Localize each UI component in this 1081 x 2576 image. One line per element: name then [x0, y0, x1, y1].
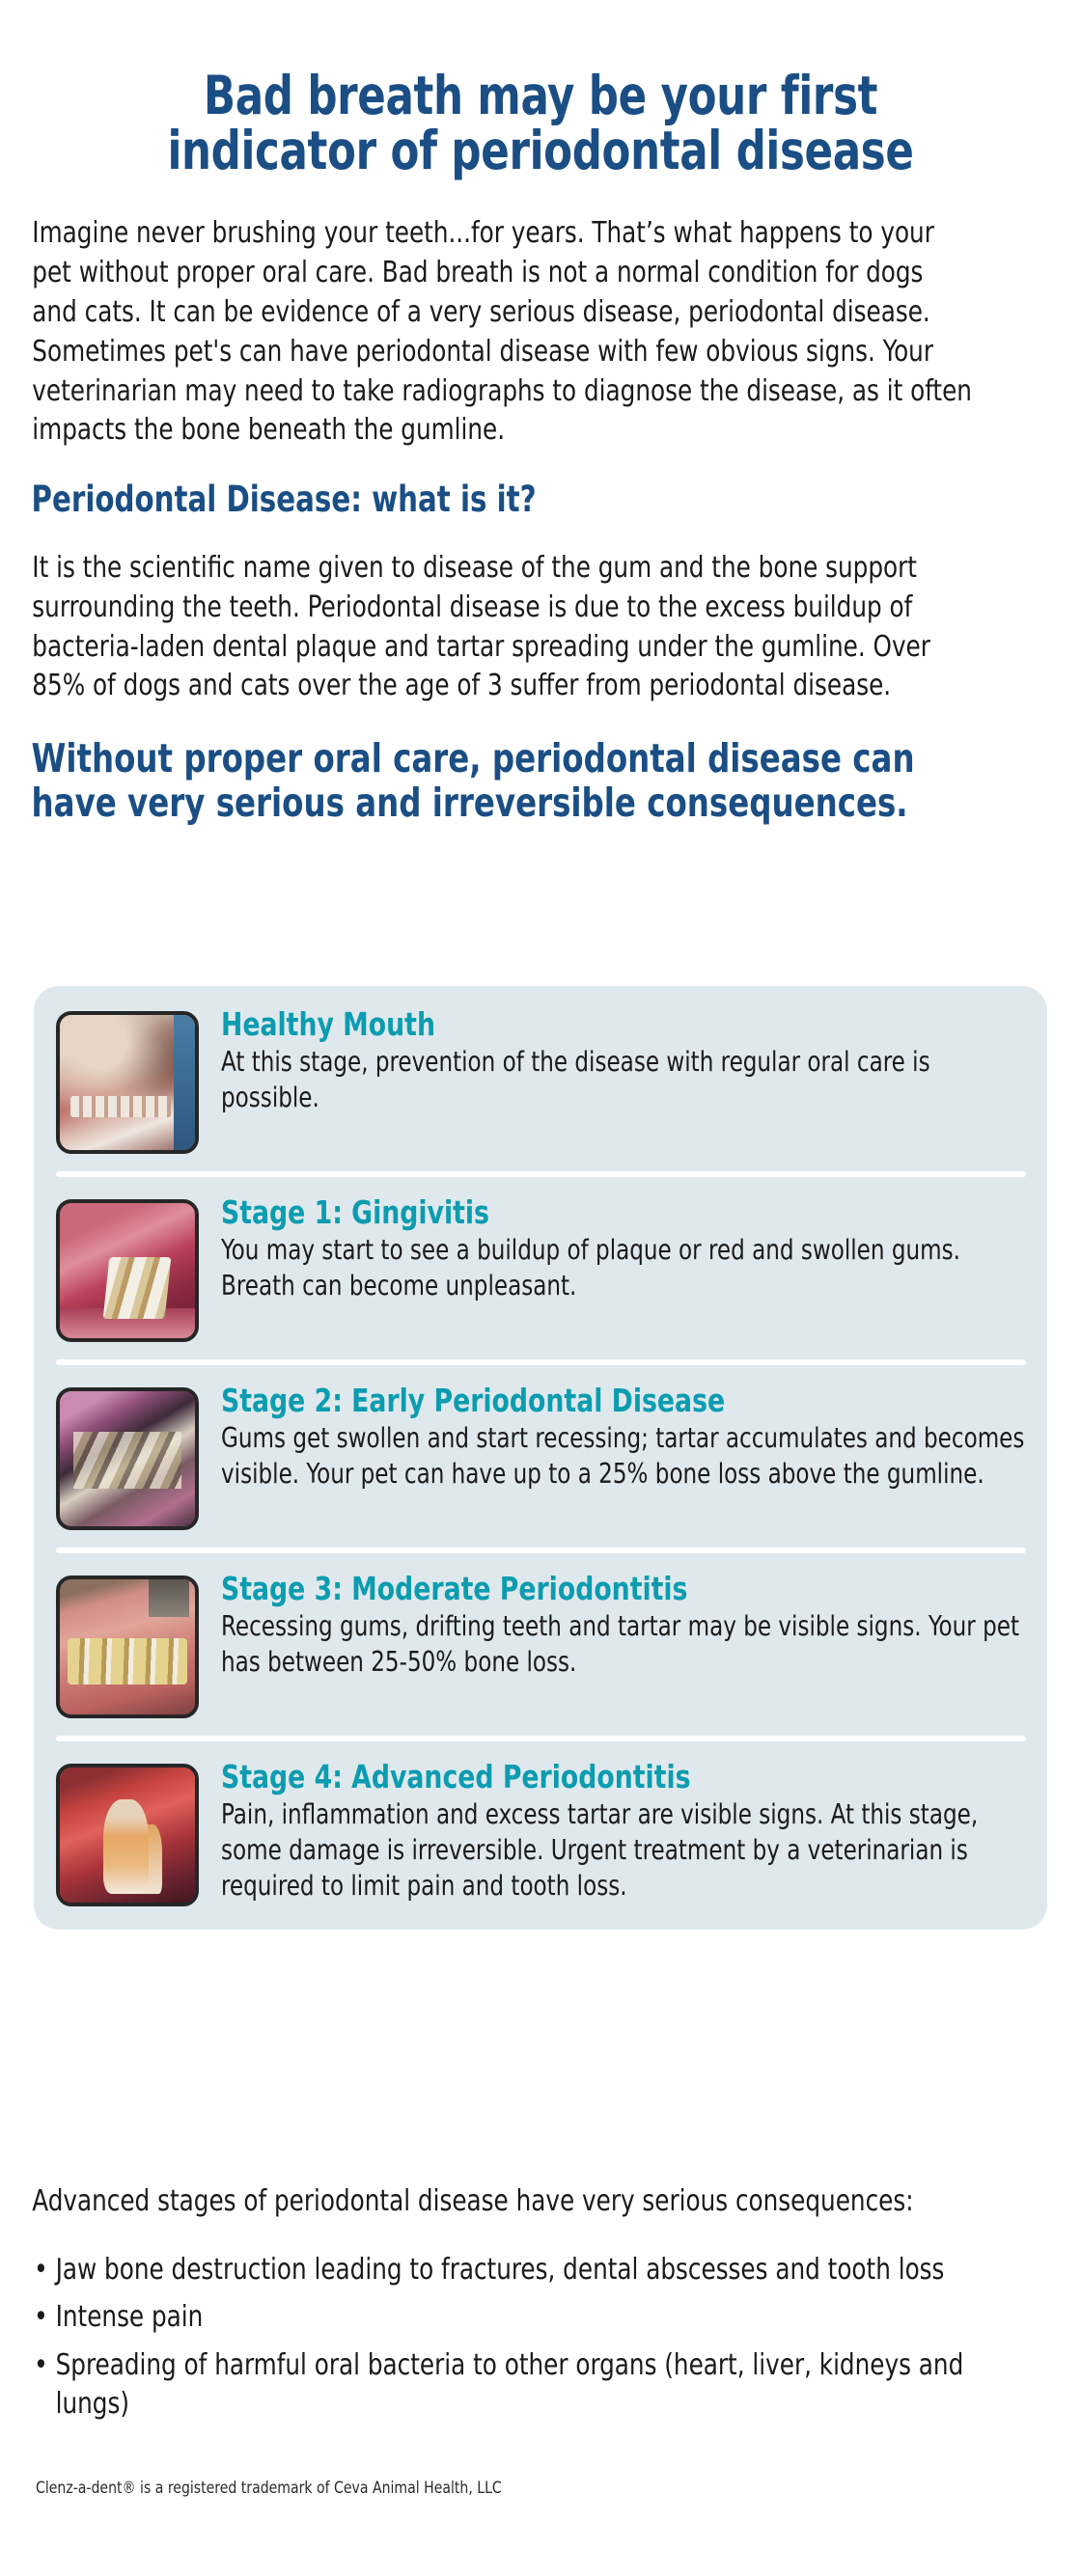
- list-item-label: Spreading of harmful oral bacteria to ot…: [56, 2348, 964, 2421]
- stage-3-moderate-periodontitis-photo: [56, 1576, 199, 1718]
- stage-row: Stage 3: Moderate Periodontitis Recessin…: [34, 1570, 1047, 1718]
- stage-row: Stage 4: Advanced Periodontitis Pain, in…: [34, 1758, 1047, 1906]
- stage-title: Stage 2: Early Periodontal Disease: [221, 1384, 1025, 1419]
- stage-description: Recessing gums, drifting teeth and tarta…: [221, 1608, 1025, 1680]
- stage-title: Stage 4: Advanced Periodontitis: [221, 1760, 1025, 1795]
- callout-line-1: Without proper oral care, periodontal di…: [32, 736, 1028, 781]
- stage-row: Healthy Mouth At this stage, prevention …: [34, 1005, 1047, 1154]
- bullet-icon: •: [34, 2251, 48, 2289]
- stage-2-early-periodontal-disease-photo: [56, 1387, 199, 1530]
- stage-divider: [56, 1736, 1026, 1741]
- stage-1-gingivitis-photo: [56, 1199, 199, 1342]
- stage-divider: [56, 1359, 1026, 1365]
- list-item-label: Jaw bone destruction leading to fracture…: [56, 2253, 945, 2287]
- stage-title: Healthy Mouth: [221, 1007, 1025, 1043]
- stage-divider: [56, 1171, 1026, 1177]
- stage-text-block: Stage 4: Advanced Periodontitis Pain, in…: [199, 1758, 1026, 1904]
- section-heading-what-is-it: Periodontal Disease: what is it?: [0, 480, 1062, 520]
- stage-description: You may start to see a buildup of plaque…: [221, 1232, 1025, 1303]
- stage-text-block: Stage 2: Early Periodontal Disease Gums …: [199, 1382, 1026, 1492]
- list-item-label: Intense pain: [56, 2300, 204, 2334]
- stage-row: Stage 1: Gingivitis You may start to see…: [34, 1193, 1047, 1342]
- page-title-line-1: Bad breath may be your first: [116, 69, 965, 123]
- stage-description: Gums get swollen and start recessing; ta…: [221, 1420, 1025, 1492]
- page-title-line-2: indicator of periodontal disease: [116, 123, 965, 178]
- trademark-notice: Clenz-a-dent® is a registered trademark …: [36, 2479, 502, 2498]
- consequences-section: Advanced stages of periodontal disease h…: [0, 2153, 1081, 2432]
- stage-text-block: Healthy Mouth At this stage, prevention …: [199, 1005, 1026, 1115]
- stage-text-block: Stage 1: Gingivitis You may start to see…: [199, 1193, 1026, 1303]
- bullet-icon: •: [34, 2298, 48, 2337]
- what-is-it-paragraph: It is the scientific name given to disea…: [0, 549, 1008, 706]
- stage-text-block: Stage 3: Moderate Periodontitis Recessin…: [199, 1570, 1026, 1680]
- healthy-mouth-photo: [56, 1011, 199, 1154]
- stage-row: Stage 2: Early Periodontal Disease Gums …: [34, 1382, 1047, 1530]
- page-title: Bad breath may be your first indicator o…: [65, 36, 1016, 178]
- stage-divider: [56, 1548, 1026, 1553]
- stage-4-advanced-periodontitis-photo: [56, 1764, 199, 1906]
- stage-description: Pain, inflammation and excess tartar are…: [221, 1796, 1025, 1904]
- stage-title: Stage 1: Gingivitis: [221, 1195, 1025, 1231]
- bullet-icon: •: [34, 2346, 48, 2385]
- consequences-list: • Jaw bone destruction leading to fractu…: [0, 2251, 1077, 2424]
- list-item: • Intense pain: [32, 2298, 1042, 2337]
- list-item: • Jaw bone destruction leading to fractu…: [32, 2251, 1042, 2289]
- stage-description: At this stage, prevention of the disease…: [221, 1044, 1025, 1115]
- stage-title: Stage 3: Moderate Periodontitis: [221, 1572, 1025, 1607]
- infographic-page: Bad breath may be your first indicator o…: [0, 36, 1081, 2576]
- callout-line-2: have very serious and irreversible conse…: [32, 781, 1028, 825]
- callout-heading: Without proper oral care, periodontal di…: [0, 736, 1062, 826]
- list-item: • Spreading of harmful oral bacteria to …: [32, 2346, 1042, 2425]
- disease-stages-panel: Healthy Mouth At this stage, prevention …: [34, 986, 1047, 1930]
- consequences-lead-in: Advanced stages of periodontal disease h…: [0, 2182, 1077, 2221]
- intro-paragraph: Imagine never brushing your teeth...for …: [0, 214, 1008, 451]
